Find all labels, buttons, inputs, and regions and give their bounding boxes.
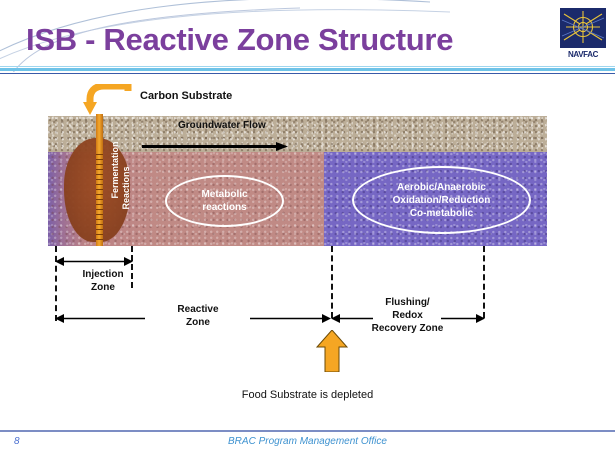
well-screen-tick: [96, 159, 103, 160]
flushing-recovery-zone-label: Flushing/ Redox Recovery Zone: [340, 296, 475, 335]
aerobic-anaerobic-ellipse: Aerobic/Anaerobic Oxidation/Reduction Co…: [352, 166, 531, 234]
reactive-zone-measure-left: [55, 311, 145, 322]
injection-well-casing: [96, 114, 103, 246]
slide-header: ISB - Reactive Zone Structure: [0, 0, 615, 78]
footer-text: BRAC Program Management Office: [0, 436, 615, 447]
well-screen-tick: [96, 224, 103, 225]
reactive-zone-measure-right: [250, 311, 331, 322]
footer-rule: [0, 430, 615, 432]
fermentation-reactions-label-line2: Reactions: [121, 152, 137, 224]
reactive-zone-diagram: Carbon Substrate Groundwater Flow Fer: [0, 78, 615, 378]
well-screen-tick: [96, 204, 103, 205]
well-screen-tick: [96, 199, 103, 200]
groundwater-flow-arrow-icon: [142, 138, 288, 147]
well-screen-tick: [96, 209, 103, 210]
header-rule-thin: [0, 73, 615, 74]
guide-line-reactive-end: [331, 246, 333, 318]
well-screen-tick: [96, 239, 103, 240]
well-screen-tick: [96, 164, 103, 165]
well-screen-tick: [96, 229, 103, 230]
well-screen-tick: [96, 184, 103, 185]
reactive-zone-label: Reactive Zone: [148, 303, 248, 329]
navfac-logo-text: NAVFAC: [560, 49, 606, 60]
well-screen-tick: [96, 179, 103, 180]
well-screen-tick: [96, 154, 103, 155]
metabolic-line-2: reactions: [201, 201, 247, 214]
injection-zone-line-1: Injection: [58, 268, 148, 281]
groundwater-flow-label: Groundwater Flow: [178, 120, 266, 131]
navfac-logo-mark: [560, 8, 606, 48]
metabolic-line-1: Metabolic: [201, 188, 247, 201]
reactive-zone-line-2: Zone: [148, 316, 248, 329]
flushing-zone-line-1: Flushing/: [340, 296, 475, 309]
page-title: ISB - Reactive Zone Structure: [26, 22, 453, 58]
reactive-zone-line-1: Reactive: [148, 303, 248, 316]
injection-zone-measure-arrow: [55, 254, 133, 265]
aerobic-line-1: Aerobic/Anaerobic: [393, 181, 491, 194]
injection-wellhead-icon: [82, 84, 132, 118]
flushing-zone-line-2: Redox: [340, 309, 475, 322]
well-screen-tick: [96, 194, 103, 195]
injection-zone-line-2: Zone: [58, 281, 148, 294]
well-screen-tick: [96, 234, 103, 235]
well-screen-tick: [96, 219, 103, 220]
header-rule-top: [0, 66, 615, 67]
flushing-zone-line-3: Recovery Zone: [340, 322, 475, 335]
well-screen-tick: [96, 214, 103, 215]
aerobic-line-3: Co-metabolic: [393, 207, 491, 220]
well-screen-tick: [96, 169, 103, 170]
substrate-depleted-arrow-icon: [316, 330, 348, 372]
well-screen-tick: [96, 189, 103, 190]
well-screen-tick: [96, 174, 103, 175]
header-rule-thick: [0, 68, 615, 71]
guide-line-flushing-end: [483, 246, 485, 318]
carbon-substrate-label: Carbon Substrate: [140, 90, 232, 102]
aerobic-line-2: Oxidation/Reduction: [393, 194, 491, 207]
injection-zone-label: Injection Zone: [58, 268, 148, 294]
metabolic-reactions-ellipse: Metabolic reactions: [165, 175, 284, 227]
slide-footer: 8 BRAC Program Management Office: [0, 430, 615, 461]
navfac-logo: NAVFAC: [560, 8, 606, 60]
substrate-depleted-note: Food Substrate is depleted: [0, 389, 615, 401]
